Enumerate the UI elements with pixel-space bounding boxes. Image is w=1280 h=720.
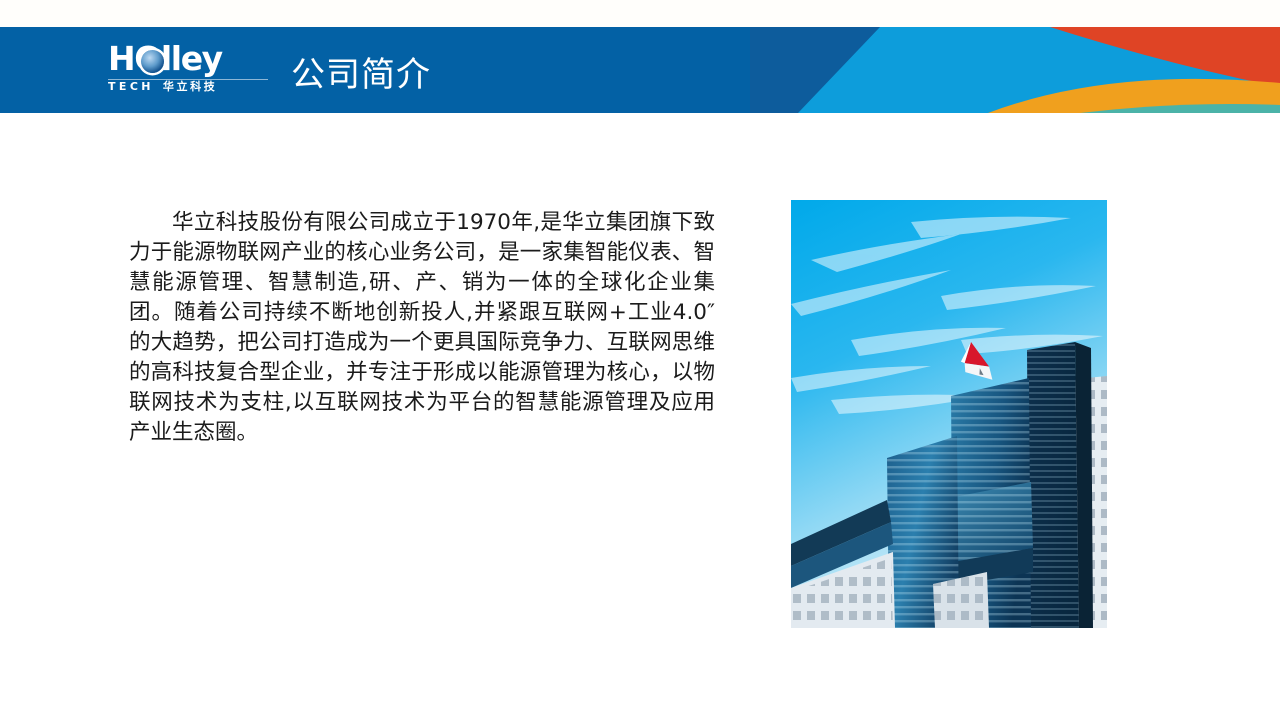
slide-root: HOlley TECH 华立科技 公司简介 华立科技股份有限公司成立于1970年… <box>0 0 1280 720</box>
top-strip <box>0 0 1280 27</box>
logo-sub-cn: 华立科技 <box>163 78 217 94</box>
header-ribbon-graphic <box>750 27 1280 113</box>
company-intro-paragraph: 华立科技股份有限公司成立于1970年,是华立集团旗下致力于能源物联网产业的核心业… <box>129 208 715 448</box>
page-title: 公司简介 <box>291 45 431 97</box>
logo-sphere-icon <box>141 50 164 73</box>
company-building-photo <box>791 200 1107 628</box>
logo-wordmark: HOlley <box>108 45 268 78</box>
logo-subtext: TECH 华立科技 <box>108 78 268 94</box>
logo-wordmark-text: HOlley <box>108 42 222 75</box>
company-logo: HOlley TECH 华立科技 <box>108 45 268 95</box>
right-dark-tower <box>1027 342 1093 628</box>
logo-sub-en: TECH <box>108 80 154 93</box>
building-photo-graphic <box>791 200 1107 628</box>
